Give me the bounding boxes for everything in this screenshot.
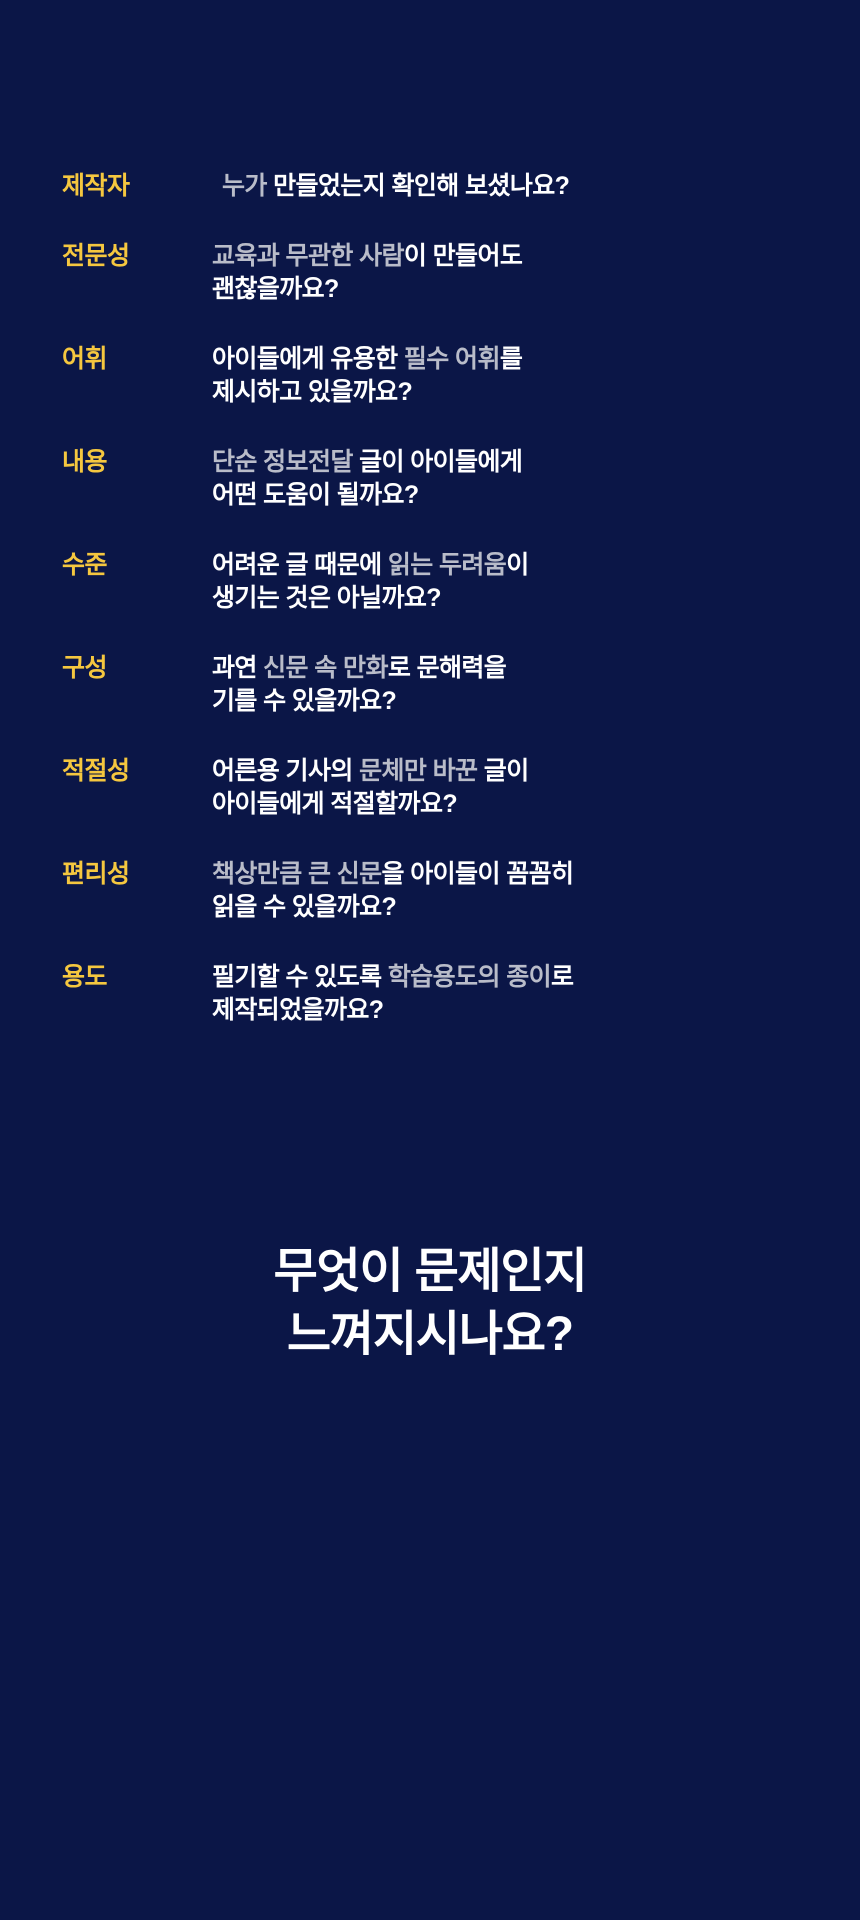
criteria-question: 과연 신문 속 만화로 문해력을기를 수 있을까요?: [212, 652, 800, 719]
emphasis-fragment: 교육과 무관한 사람: [212, 242, 404, 270]
promo-page: 제작자누가 만들었는지 확인해 보셨나요?전문성교육과 무관한 사람이 만들어도…: [0, 0, 860, 1920]
text-fragment: 필기할 수 있도록: [212, 963, 388, 991]
text-fragment: 이: [506, 551, 528, 579]
criteria-question-line: 읽을 수 있을까요?: [212, 891, 800, 925]
criteria-row: 구성과연 신문 속 만화로 문해력을기를 수 있을까요?: [62, 652, 800, 719]
headline-line: 느껴지시나요?: [0, 1303, 860, 1366]
criteria-question-line: 아이들에게 적절할까요?: [212, 788, 800, 822]
text-fragment: 글이 아이들에게: [353, 448, 523, 476]
criteria-question-line: 어떤 도움이 될까요?: [212, 479, 800, 513]
criteria-label: 수준: [62, 549, 212, 583]
text-fragment: 어른용 기사의: [212, 757, 359, 785]
emphasis-fragment: 신문 속 만화: [263, 654, 388, 682]
text-fragment: 글이: [477, 757, 528, 785]
headline: 무엇이 문제인지느껴지시나요?: [0, 1240, 860, 1367]
text-fragment: 로 문해력을: [388, 654, 506, 682]
criteria-question: 어려운 글 때문에 읽는 두려움이생기는 것은 아닐까요?: [212, 549, 800, 616]
criteria-label: 내용: [62, 446, 212, 480]
criteria-label: 편리성: [62, 858, 212, 892]
criteria-row: 용도필기할 수 있도록 학습용도의 종이로제작되었을까요?: [62, 961, 800, 1028]
text-fragment: 을 아이들이 꼼꼼히: [382, 860, 574, 888]
criteria-question-line: 과연 신문 속 만화로 문해력을: [212, 652, 800, 686]
criteria-question-line: 필기할 수 있도록 학습용도의 종이로: [212, 961, 800, 995]
criteria-question-line: 책상만큼 큰 신문을 아이들이 꼼꼼히: [212, 858, 800, 892]
criteria-question-line: 교육과 무관한 사람이 만들어도: [212, 240, 800, 274]
criteria-question: 필기할 수 있도록 학습용도의 종이로제작되었을까요?: [212, 961, 800, 1028]
emphasis-fragment: 필수 어휘: [404, 345, 500, 373]
criteria-question-line: 괜찮을까요?: [212, 273, 800, 307]
criteria-question: 교육과 무관한 사람이 만들어도괜찮을까요?: [212, 240, 800, 307]
criteria-question-line: 제작되었을까요?: [212, 994, 800, 1028]
criteria-label: 적절성: [62, 755, 212, 789]
text-fragment: 를: [500, 345, 522, 373]
emphasis-fragment: 문체만 바꾼: [359, 757, 477, 785]
criteria-question-line: 생기는 것은 아닐까요?: [212, 582, 800, 616]
criteria-list: 제작자누가 만들었는지 확인해 보셨나요?전문성교육과 무관한 사람이 만들어도…: [0, 170, 860, 1028]
criteria-row: 전문성교육과 무관한 사람이 만들어도괜찮을까요?: [62, 240, 800, 307]
text-fragment: 읽을 수 있을까요?: [212, 893, 396, 921]
criteria-label: 구성: [62, 652, 212, 686]
criteria-row: 수준어려운 글 때문에 읽는 두려움이생기는 것은 아닐까요?: [62, 549, 800, 616]
headline-line: 무엇이 문제인지: [0, 1240, 860, 1303]
emphasis-fragment: 학습용도의 종이: [388, 963, 551, 991]
emphasis-fragment: 책상만큼 큰 신문: [212, 860, 382, 888]
criteria-label: 용도: [62, 961, 212, 995]
text-fragment: 기를 수 있을까요?: [212, 687, 396, 715]
text-fragment: 아이들에게 적절할까요?: [212, 790, 457, 818]
text-fragment: 어려운 글 때문에: [212, 551, 388, 579]
criteria-row: 적절성어른용 기사의 문체만 바꾼 글이아이들에게 적절할까요?: [62, 755, 800, 822]
text-fragment: 만들었는지 확인해 보셨나요?: [273, 172, 569, 200]
criteria-question: 어른용 기사의 문체만 바꾼 글이아이들에게 적절할까요?: [212, 755, 800, 822]
criteria-row: 내용단순 정보전달 글이 아이들에게어떤 도움이 될까요?: [62, 446, 800, 513]
criteria-label: 어휘: [62, 343, 212, 377]
criteria-question: 누가 만들었는지 확인해 보셨나요?: [212, 170, 800, 204]
criteria-question: 단순 정보전달 글이 아이들에게어떤 도움이 될까요?: [212, 446, 800, 513]
text-fragment: 제작되었을까요?: [212, 996, 383, 1024]
criteria-row: 어휘아이들에게 유용한 필수 어휘를제시하고 있을까요?: [62, 343, 800, 410]
text-fragment: 로: [551, 963, 573, 991]
criteria-question: 책상만큼 큰 신문을 아이들이 꼼꼼히읽을 수 있을까요?: [212, 858, 800, 925]
criteria-question-line: 단순 정보전달 글이 아이들에게: [212, 446, 800, 480]
criteria-label: 제작자: [62, 170, 212, 204]
text-fragment: 생기는 것은 아닐까요?: [212, 584, 441, 612]
emphasis-fragment: 읽는 두려움: [388, 551, 506, 579]
criteria-question-line: 어른용 기사의 문체만 바꾼 글이: [212, 755, 800, 789]
criteria-question-line: 제시하고 있을까요?: [212, 376, 800, 410]
criteria-row: 편리성책상만큼 큰 신문을 아이들이 꼼꼼히읽을 수 있을까요?: [62, 858, 800, 925]
text-fragment: 이 만들어도: [404, 242, 522, 270]
criteria-row: 제작자누가 만들었는지 확인해 보셨나요?: [62, 170, 800, 204]
criteria-question-line: 아이들에게 유용한 필수 어휘를: [212, 343, 800, 377]
criteria-question-line: 누가 만들었는지 확인해 보셨나요?: [222, 170, 800, 204]
text-fragment: 괜찮을까요?: [212, 275, 339, 303]
text-fragment: 아이들에게 유용한: [212, 345, 404, 373]
criteria-label: 전문성: [62, 240, 212, 274]
criteria-question-line: 어려운 글 때문에 읽는 두려움이: [212, 549, 800, 583]
criteria-question: 아이들에게 유용한 필수 어휘를제시하고 있을까요?: [212, 343, 800, 410]
text-fragment: 제시하고 있을까요?: [212, 378, 412, 406]
criteria-question-line: 기를 수 있을까요?: [212, 685, 800, 719]
text-fragment: 과연: [212, 654, 263, 682]
emphasis-fragment: 누가: [222, 172, 273, 200]
text-fragment: 어떤 도움이 될까요?: [212, 481, 419, 509]
emphasis-fragment: 단순 정보전달: [212, 448, 353, 476]
